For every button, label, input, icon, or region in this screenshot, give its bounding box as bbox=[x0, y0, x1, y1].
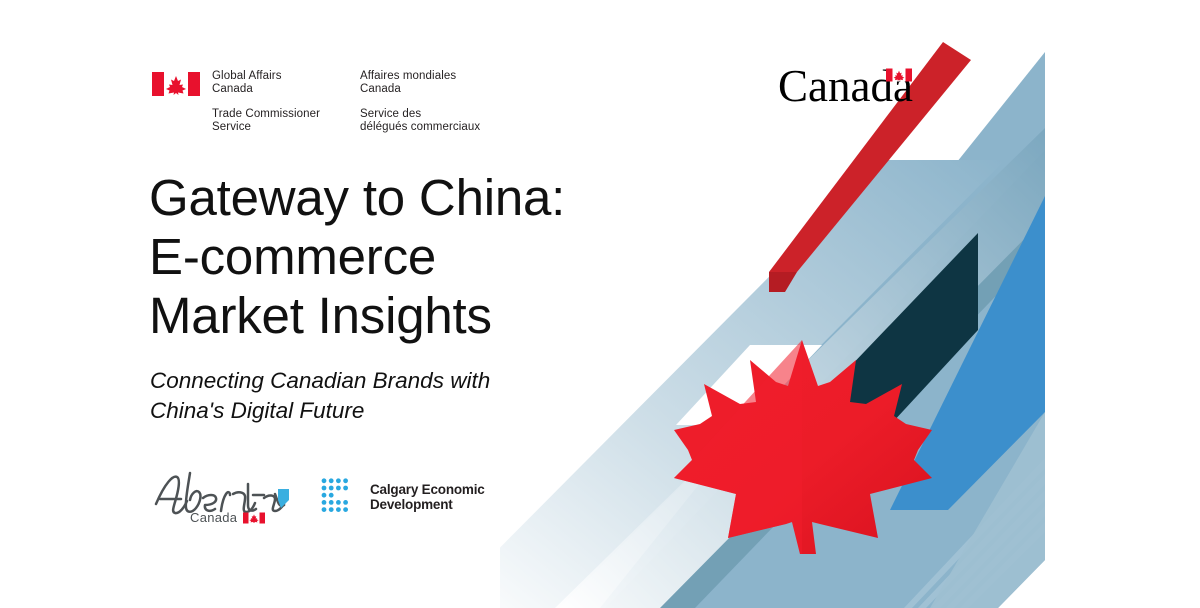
canada-flag-icon bbox=[243, 512, 265, 524]
canada-wordmark: Canada bbox=[778, 64, 913, 109]
alberta-logo: Canada bbox=[150, 466, 290, 528]
page-title: Gateway to China: E-commerce Market Insi… bbox=[149, 168, 609, 345]
gac-fr-line1: Affaires mondiales Canada bbox=[360, 70, 530, 97]
global-affairs-canada-signature: Global Affairs Canada Trade Commissioner… bbox=[152, 70, 530, 135]
title-line-2: E-commerce bbox=[149, 227, 609, 286]
canada-flag-icon bbox=[886, 68, 912, 82]
gac-en-line1: Global Affairs Canada bbox=[212, 70, 360, 97]
title-line-3: Market Insights bbox=[149, 286, 609, 345]
page-subtitle: Connecting Canadian Brands with China's … bbox=[150, 366, 570, 426]
title-line-1: Gateway to China: bbox=[149, 168, 609, 227]
partner-logos: Canada bbox=[150, 466, 485, 528]
poster-canvas: Global Affairs Canada Trade Commissioner… bbox=[0, 0, 1200, 608]
gac-en-line2: Trade Commissioner Service bbox=[212, 108, 360, 135]
gac-fr-line2: Service des délégués commerciaux bbox=[360, 108, 530, 135]
alberta-tagline: Canada bbox=[190, 510, 237, 525]
ced-line-2: Development bbox=[370, 497, 485, 512]
subtitle-line-1: Connecting Canadian Brands with bbox=[150, 366, 570, 396]
canada-flag-icon bbox=[152, 70, 200, 98]
dotted-c-icon bbox=[318, 476, 360, 518]
ced-wordmark: Calgary Economic Development bbox=[370, 482, 485, 512]
ced-line-1: Calgary Economic bbox=[370, 482, 485, 497]
subtitle-line-2: China's Digital Future bbox=[150, 396, 570, 426]
calgary-economic-development-logo: Calgary Economic Development bbox=[318, 476, 485, 518]
